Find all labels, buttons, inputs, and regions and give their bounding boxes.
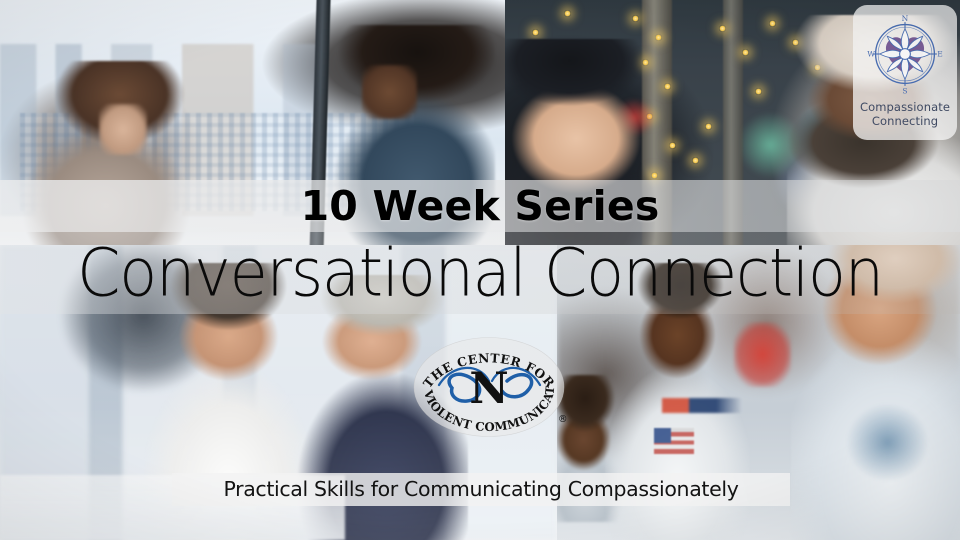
- poster-canvas: N THE CENTER FOR NONVIOLENT COMMUNICATIO…: [0, 0, 960, 540]
- title-banner: Conversational Connection: [0, 232, 960, 314]
- compassionate-connecting-logo: N S W E Compassionate Connecting: [853, 5, 957, 140]
- compass-south-label: S: [902, 86, 907, 95]
- registered-trademark-mark: ®: [558, 414, 568, 425]
- cc-label-line-1: Compassionate: [860, 100, 950, 114]
- series-banner: 10 Week Series: [0, 180, 960, 232]
- compass-east-label: E: [937, 50, 943, 59]
- tshirt-graphic-blur: [847, 404, 928, 481]
- usa-flag-patch: [654, 428, 694, 455]
- cc-label-line-2: Connecting: [860, 114, 950, 128]
- compassionate-connecting-label: Compassionate Connecting: [860, 100, 950, 128]
- poster-title: Conversational Connection: [77, 240, 883, 306]
- compass-north-label: N: [902, 14, 909, 23]
- svg-text:N: N: [469, 364, 508, 414]
- series-label: 10 Week Series: [301, 186, 660, 227]
- compass-west-label: W: [867, 50, 875, 59]
- compass-rose-icon: N S W E: [863, 12, 947, 96]
- polo-collar-stripe: [662, 398, 743, 413]
- subtitle-banner: Practical Skills for Communicating Compa…: [172, 473, 790, 506]
- poster-subtitle: Practical Skills for Communicating Compa…: [223, 479, 738, 500]
- cnvc-seal-icon: N THE CENTER FOR NONVIOLENT COMMUNICATIO…: [404, 333, 574, 441]
